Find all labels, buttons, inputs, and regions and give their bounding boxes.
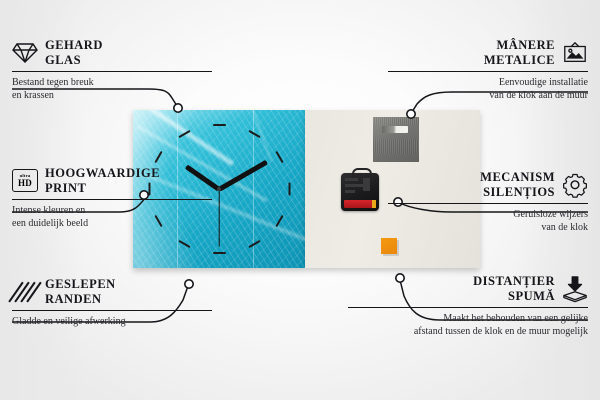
mechanism-detail bbox=[345, 178, 358, 181]
clock-tick bbox=[275, 151, 283, 163]
callout-hoogwaardige-print: ultra HD HOOGWAARDIGE PRINT Intense kleu… bbox=[12, 166, 212, 230]
callout-rule bbox=[12, 310, 212, 311]
callout-distantier-spuma: DISTANȚIER SPUMĂ Maakt het behouden van … bbox=[348, 274, 588, 338]
second-hand bbox=[218, 189, 219, 247]
clock-tick bbox=[213, 252, 226, 254]
callout-description: Maakt het behouden van een gelijke afsta… bbox=[348, 312, 588, 338]
callout-geslepen-randen: GESLEPEN RANDEN Gladde en veilige afwerk… bbox=[12, 277, 212, 328]
callout-title: DISTANȚIER SPUMĂ bbox=[473, 274, 555, 304]
callout-gehard-glas: GEHARD GLAS Bestand tegen breuk en krass… bbox=[12, 38, 212, 102]
callout-description: Geruisloze wijzers van de klok bbox=[388, 208, 588, 234]
callout-header: DISTANȚIER SPUMĂ bbox=[348, 274, 588, 304]
clock-tick bbox=[154, 151, 162, 163]
callout-title: GEHARD GLAS bbox=[45, 38, 103, 68]
clock-tick bbox=[275, 215, 283, 227]
callout-description: Gladde en veilige afwerking bbox=[12, 315, 212, 328]
callout-title: MÂNERE METALICE bbox=[484, 38, 555, 68]
wall-mount-frame-icon bbox=[562, 40, 588, 66]
callout-title: MECANISM SILENȚIOS bbox=[480, 170, 555, 200]
clock-tick bbox=[248, 240, 260, 248]
callout-title: GESLEPEN RANDEN bbox=[45, 277, 116, 307]
metal-hanger-plate bbox=[373, 117, 419, 162]
callout-header: GEHARD GLAS bbox=[12, 38, 212, 68]
callout-rule bbox=[12, 71, 212, 72]
beveled-edges-icon bbox=[12, 279, 38, 305]
callout-rule bbox=[348, 307, 588, 308]
callout-description: Bestand tegen breuk en krassen bbox=[12, 76, 212, 102]
clock-mechanism bbox=[341, 173, 379, 211]
callout-rule bbox=[388, 203, 588, 204]
callout-header: MÂNERE METALICE bbox=[388, 38, 588, 68]
hanger-loop-icon bbox=[352, 168, 372, 178]
ultra-hd-icon: ultra HD bbox=[12, 168, 38, 194]
foam-spacer bbox=[381, 238, 397, 254]
callout-mecanism-silentios: MECANISM SILENȚIOS Geruisloze wijzers va… bbox=[388, 170, 588, 234]
mechanism-detail bbox=[345, 184, 364, 187]
clock-tick bbox=[213, 124, 226, 126]
callout-description: Eenvoudige installatie van de klok aan d… bbox=[388, 76, 588, 102]
callout-header: ultra HD HOOGWAARDIGE PRINT bbox=[12, 166, 212, 196]
minute-hand bbox=[218, 160, 268, 191]
hd-large-text: HD bbox=[18, 179, 32, 188]
clock-center-pin bbox=[217, 187, 221, 191]
clock-tick bbox=[248, 129, 260, 137]
battery bbox=[344, 200, 375, 208]
clock-tick bbox=[178, 240, 190, 248]
callout-description: Intense kleuren en een duidelijk beeld bbox=[12, 204, 212, 230]
mechanism-detail bbox=[345, 190, 355, 193]
callout-header: MECANISM SILENȚIOS bbox=[388, 170, 588, 200]
clock-tick bbox=[178, 129, 190, 137]
callout-manere-metalice: MÂNERE METALICE Eenvoudige installatie v… bbox=[388, 38, 588, 102]
callout-title: HOOGWAARDIGE PRINT bbox=[45, 166, 160, 196]
infographic-canvas: GEHARD GLAS Bestand tegen breuk en krass… bbox=[0, 0, 600, 400]
gear-icon bbox=[562, 172, 588, 198]
callout-header: GESLEPEN RANDEN bbox=[12, 277, 212, 307]
spacer-arrow-icon bbox=[562, 276, 588, 302]
callout-rule bbox=[388, 71, 588, 72]
clock-tick bbox=[288, 183, 290, 196]
diamond-icon bbox=[12, 40, 38, 66]
mechanism-detail bbox=[363, 178, 370, 191]
keyhole-slot bbox=[382, 126, 408, 133]
callout-rule bbox=[12, 199, 212, 200]
